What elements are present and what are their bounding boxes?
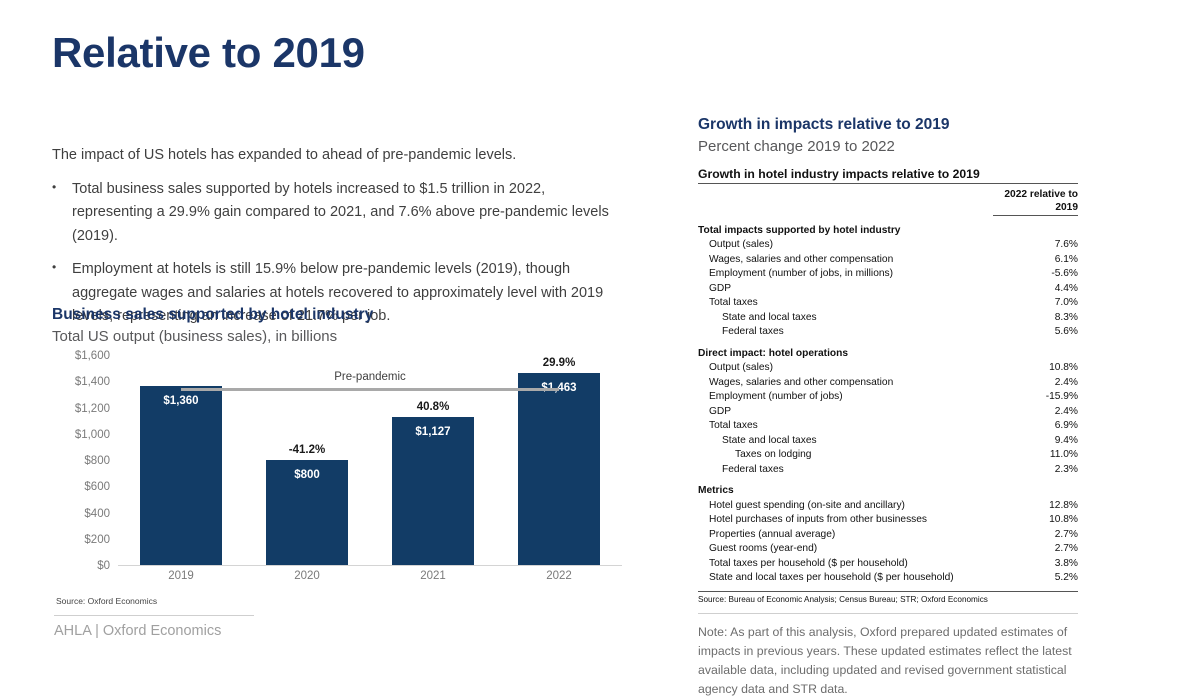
- table-row-value: 2.7%: [993, 528, 1078, 542]
- table-row: Output (sales)7.6%: [698, 238, 1078, 252]
- table-row-value: 2.7%: [993, 542, 1078, 556]
- table-row-label: Employment (number of jobs, in millions): [698, 267, 993, 281]
- table-row-value: 6.1%: [993, 253, 1078, 267]
- y-axis-tick-labels: $1,600$1,400$1,200$1,000$800$600$400$200…: [52, 356, 110, 566]
- y-axis-tick-label: $0: [97, 560, 110, 572]
- bar-chart: $1,600$1,400$1,200$1,000$800$600$400$200…: [52, 356, 622, 588]
- table-row: Guest rooms (year-end)2.7%: [698, 542, 1078, 556]
- table-row: Federal taxes5.6%: [698, 325, 1078, 339]
- table-row-label: Total taxes per household ($ per househo…: [698, 557, 993, 571]
- table-row-value: 7.6%: [993, 238, 1078, 252]
- table-row: Total taxes6.9%: [698, 419, 1078, 433]
- chart-source-note: Source: Oxford Economics: [56, 596, 157, 606]
- table-row: Federal taxes2.3%: [698, 463, 1078, 477]
- right-panel-title: Growth in impacts relative to 2019: [698, 116, 1078, 134]
- table-row-value: -5.6%: [993, 267, 1078, 281]
- table-row: Employment (number of jobs, in millions)…: [698, 267, 1078, 281]
- y-axis-tick-label: $600: [84, 481, 110, 493]
- table-row-label: Wages, salaries and other compensation: [698, 253, 993, 267]
- y-axis-tick-label: $800: [84, 455, 110, 467]
- table-header-line1: 2022 relative to: [1004, 189, 1078, 200]
- table-group-heading-value: [993, 340, 1078, 361]
- table-column-header: 2022 relative to 2019: [698, 185, 1078, 215]
- table-row-value: 8.3%: [993, 311, 1078, 325]
- table-source-note: Source: Bureau of Economic Analysis; Cen…: [698, 591, 1078, 604]
- table-group-heading-row: Direct impact: hotel operations: [698, 340, 1078, 361]
- y-axis-tick-label: $1,000: [75, 429, 110, 441]
- table-row-label: State and local taxes per household ($ p…: [698, 571, 993, 585]
- x-axis-tick-label: 2019: [140, 570, 222, 582]
- table-group-heading: Metrics: [698, 477, 993, 498]
- table-row-value: 3.8%: [993, 557, 1078, 571]
- right-panel-subtitle: Percent change 2019 to 2022: [698, 138, 1078, 155]
- table-row-value: 10.8%: [993, 513, 1078, 527]
- table-row: Taxes on lodging11.0%: [698, 448, 1078, 462]
- table-row-label: Output (sales): [698, 238, 993, 252]
- table-row-label: State and local taxes: [698, 311, 993, 325]
- table-row-label: Output (sales): [698, 361, 993, 375]
- table-row-value: 12.8%: [993, 499, 1078, 513]
- table-row-value: 2.4%: [993, 405, 1078, 419]
- table-caption: Growth in hotel industry impacts relativ…: [698, 167, 1078, 183]
- y-axis-tick-label: $200: [84, 534, 110, 546]
- table-row-label: Federal taxes: [698, 463, 993, 477]
- table-row-value: 7.0%: [993, 296, 1078, 310]
- pre-pandemic-reference-line: [181, 388, 559, 391]
- bullet-dot-icon: •: [52, 178, 72, 248]
- table-row-label: GDP: [698, 282, 993, 296]
- table-row: Wages, salaries and other compensation6.…: [698, 253, 1078, 267]
- table-row-value: 4.4%: [993, 282, 1078, 296]
- table-row-value: 11.0%: [993, 448, 1078, 462]
- table-row: State and local taxes9.4%: [698, 434, 1078, 448]
- x-axis-tick-labels: 2019202020212022: [118, 570, 622, 588]
- y-axis-tick-label: $1,200: [75, 403, 110, 415]
- bar-value-label: $800: [266, 469, 348, 481]
- table-row-label: Total taxes: [698, 419, 993, 433]
- table-row: Output (sales)10.8%: [698, 361, 1078, 375]
- table-row-label: Hotel purchases of inputs from other bus…: [698, 513, 993, 527]
- table-header-spacer: [698, 185, 993, 215]
- table-row-label: Guest rooms (year-end): [698, 542, 993, 556]
- table-row: GDP4.4%: [698, 282, 1078, 296]
- table-row: State and local taxes8.3%: [698, 311, 1078, 325]
- table-group-heading: Total impacts supported by hotel industr…: [698, 217, 993, 238]
- table-row-value: 5.6%: [993, 325, 1078, 339]
- bar-2019: $1,360: [140, 386, 222, 565]
- table-row: Total taxes per household ($ per househo…: [698, 557, 1078, 571]
- table-row-label: GDP: [698, 405, 993, 419]
- bar-percent-change-label: 40.8%: [392, 401, 474, 413]
- x-axis-tick-label: 2020: [266, 570, 348, 582]
- table-header-value-column: 2022 relative to 2019: [993, 185, 1078, 215]
- intro-bullet-list: • Total business sales supported by hote…: [52, 168, 612, 329]
- list-item: • Total business sales supported by hote…: [52, 178, 612, 248]
- table-row-label: Wages, salaries and other compensation: [698, 376, 993, 390]
- y-axis-tick-label: $400: [84, 508, 110, 520]
- table-row-label: Hotel guest spending (on-site and ancill…: [698, 499, 993, 513]
- table-group-heading-row: Metrics: [698, 477, 1078, 498]
- impacts-table-wrapper: Growth in hotel industry impacts relativ…: [698, 167, 1078, 604]
- table-row-value: 2.3%: [993, 463, 1078, 477]
- table-row-value: 5.2%: [993, 571, 1078, 585]
- table-row: Wages, salaries and other compensation2.…: [698, 376, 1078, 390]
- bar-value-label: $1,360: [140, 395, 222, 407]
- footer-brand: AHLA | Oxford Economics: [54, 623, 221, 639]
- table-row: State and local taxes per household ($ p…: [698, 571, 1078, 585]
- chart-subtitle: Total US output (business sales), in bil…: [52, 328, 622, 345]
- table-row-value: 2.4%: [993, 376, 1078, 390]
- table-row-label: Taxes on lodging: [698, 448, 993, 462]
- x-axis-tick-label: 2021: [392, 570, 474, 582]
- y-axis-tick-label: $1,600: [75, 350, 110, 362]
- page-title: Relative to 2019: [52, 30, 365, 76]
- note-divider: [698, 613, 1078, 614]
- table-header-line2: 2019: [1055, 202, 1078, 213]
- bar-value-label: $1,127: [392, 426, 474, 438]
- table-group-heading-value: [993, 477, 1078, 498]
- bar-2022: $1,463: [518, 373, 600, 565]
- chart-title: Business sales supported by hotel indust…: [52, 306, 622, 324]
- x-axis-line: [118, 565, 622, 566]
- table-row: GDP2.4%: [698, 405, 1078, 419]
- table-row-value: 6.9%: [993, 419, 1078, 433]
- bullet-text: Total business sales supported by hotels…: [72, 178, 612, 248]
- table-row-value: 10.8%: [993, 361, 1078, 375]
- slide-root: Relative to 2019 The impact of US hotels…: [0, 0, 1192, 658]
- table-row: Hotel guest spending (on-site and ancill…: [698, 499, 1078, 513]
- table-row-value: -15.9%: [993, 390, 1078, 404]
- chart-block: Business sales supported by hotel indust…: [52, 306, 622, 588]
- table-row: Employment (number of jobs)-15.9%: [698, 390, 1078, 404]
- footer-divider: [54, 615, 254, 616]
- intro-lede: The impact of US hotels has expanded to …: [52, 144, 608, 166]
- analysis-note: Note: As part of this analysis, Oxford p…: [698, 623, 1090, 699]
- table-row-label: Employment (number of jobs): [698, 390, 993, 404]
- table-row-label: Properties (annual average): [698, 528, 993, 542]
- bar-percent-change-label: -41.2%: [266, 444, 348, 456]
- bar-2020: $800: [266, 460, 348, 565]
- table-row-value: 9.4%: [993, 434, 1078, 448]
- table-group-heading-row: Total impacts supported by hotel industr…: [698, 217, 1078, 238]
- table-row: Hotel purchases of inputs from other bus…: [698, 513, 1078, 527]
- pre-pandemic-label: Pre-pandemic: [334, 371, 406, 383]
- chart-plot-area: $1,360$800-41.2%$1,12740.8%$1,46329.9%Pr…: [118, 356, 622, 566]
- table-row-label: State and local taxes: [698, 434, 993, 448]
- impacts-table: 2022 relative to 2019 Total impacts supp…: [698, 183, 1078, 586]
- table-group-heading-value: [993, 217, 1078, 238]
- table-row: Properties (annual average)2.7%: [698, 528, 1078, 542]
- table-row: Total taxes7.0%: [698, 296, 1078, 310]
- table-row-label: Federal taxes: [698, 325, 993, 339]
- table-row-label: Total taxes: [698, 296, 993, 310]
- bar-2021: $1,127: [392, 417, 474, 565]
- bar-percent-change-label: 29.9%: [518, 357, 600, 369]
- table-group-heading: Direct impact: hotel operations: [698, 340, 993, 361]
- y-axis-tick-label: $1,400: [75, 376, 110, 388]
- right-panel: Growth in impacts relative to 2019 Perce…: [698, 116, 1078, 699]
- x-axis-tick-label: 2022: [518, 570, 600, 582]
